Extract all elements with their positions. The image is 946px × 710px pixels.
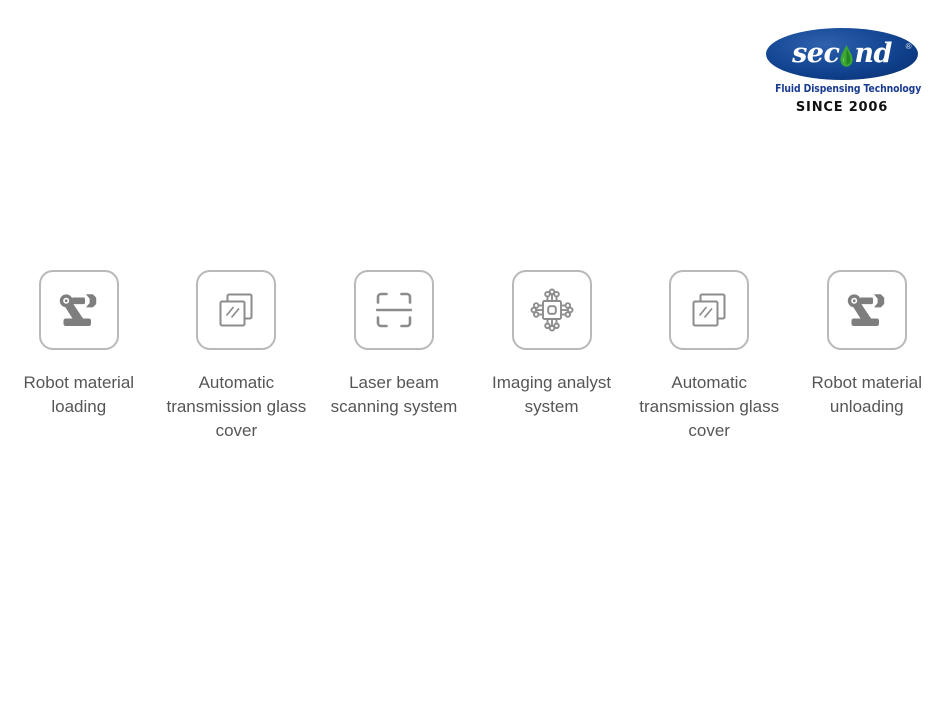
process-step-glass-cover-2[interactable]: Automatic transmission glass cover [630,270,788,443]
step-label: Robot material unloading [791,371,943,419]
water-droplet-icon [840,45,853,67]
logo-wordmark-part2: nd [854,38,892,69]
logo-since-text: SINCE 2006 [766,100,918,115]
glass-panels-icon [683,284,735,336]
process-step-robot-loading[interactable]: Robot material loading [0,270,158,419]
logo-wordmark-part1: sec [792,38,839,69]
icon-container [827,270,907,350]
process-step-imaging-analyst[interactable]: Imaging analyst system [473,270,631,419]
icon-container [512,270,592,350]
scan-frame-icon [368,284,420,336]
robot-arm-icon [841,284,893,336]
step-label: Automatic transmission glass cover [160,371,312,443]
icon-container [39,270,119,350]
logo-badge: secnd ® [766,28,918,80]
process-flow-row: Robot material loading Automatic transmi… [0,270,946,443]
microchip-icon [526,284,578,336]
icon-container [354,270,434,350]
company-logo: secnd ® Fluid Dispensing Technology SINC… [766,28,918,115]
step-label: Imaging analyst system [476,371,628,419]
glass-panels-icon [210,284,262,336]
icon-container [196,270,276,350]
step-label: Robot material loading [3,371,155,419]
process-step-glass-cover-1[interactable]: Automatic transmission glass cover [158,270,316,443]
robot-arm-icon [53,284,105,336]
step-label: Laser beam scanning system [318,371,470,419]
logo-tagline: Fluid Dispensing Technology [775,83,909,95]
registered-trademark-icon: ® [906,43,911,51]
process-step-robot-unloading[interactable]: Robot material unloading [788,270,946,419]
logo-wordmark: secnd ® [766,40,918,67]
process-step-laser-scanning[interactable]: Laser beam scanning system [315,270,473,419]
step-label: Automatic transmission glass cover [633,371,785,443]
icon-container [669,270,749,350]
